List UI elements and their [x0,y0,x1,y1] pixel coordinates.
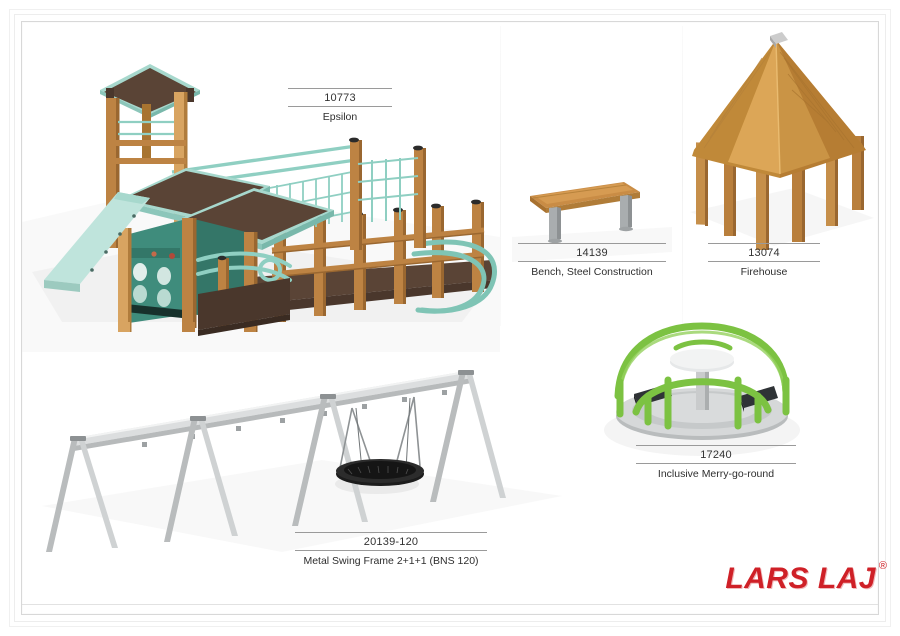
caption-rule-top [708,243,820,244]
brand-logo: LARS LAJ® [725,562,876,596]
product-code: 10773 [288,91,392,105]
product-illustration-epsilon [22,22,500,352]
product-name: Epsilon [288,110,392,124]
brand-logo-text: LARS LAJ [725,562,876,595]
caption-rule-top [288,88,392,89]
panel-separator-vertical-1 [500,26,501,326]
registered-trademark-icon: ® [879,560,887,572]
caption-rule-top [295,532,487,533]
caption-merry-go-round: 17240 Inclusive Merry-go-round [636,445,796,481]
caption-rule-bottom [288,106,392,107]
product-name: Inclusive Merry-go-round [636,467,796,481]
product-name: Metal Swing Frame 2+1+1 (BNS 120) [295,554,487,568]
caption-bench: 14139 Bench, Steel Construction [518,243,666,279]
caption-firehouse: 13074 Firehouse [708,243,820,279]
caption-swing-frame: 20139-120 Metal Swing Frame 2+1+1 (BNS 1… [295,532,487,568]
caption-rule-bottom [708,261,820,262]
panel-separator-vertical-2 [682,26,683,326]
caption-rule-bottom [636,463,796,464]
product-name: Bench, Steel Construction [518,265,666,279]
footer-divider [22,604,878,605]
product-code: 20139-120 [295,535,487,549]
merry-go-round-icon [616,326,788,440]
product-code: 14139 [518,246,666,260]
product-code: 13074 [708,246,820,260]
caption-rule-bottom [518,261,666,262]
caption-epsilon: 10773 Epsilon [288,88,392,124]
caption-rule-top [636,445,796,446]
product-name: Firehouse [708,265,820,279]
product-code: 17240 [636,448,796,462]
catalog-page: 10773 Epsilon [0,0,900,636]
caption-rule-bottom [295,550,487,551]
caption-rule-top [518,243,666,244]
